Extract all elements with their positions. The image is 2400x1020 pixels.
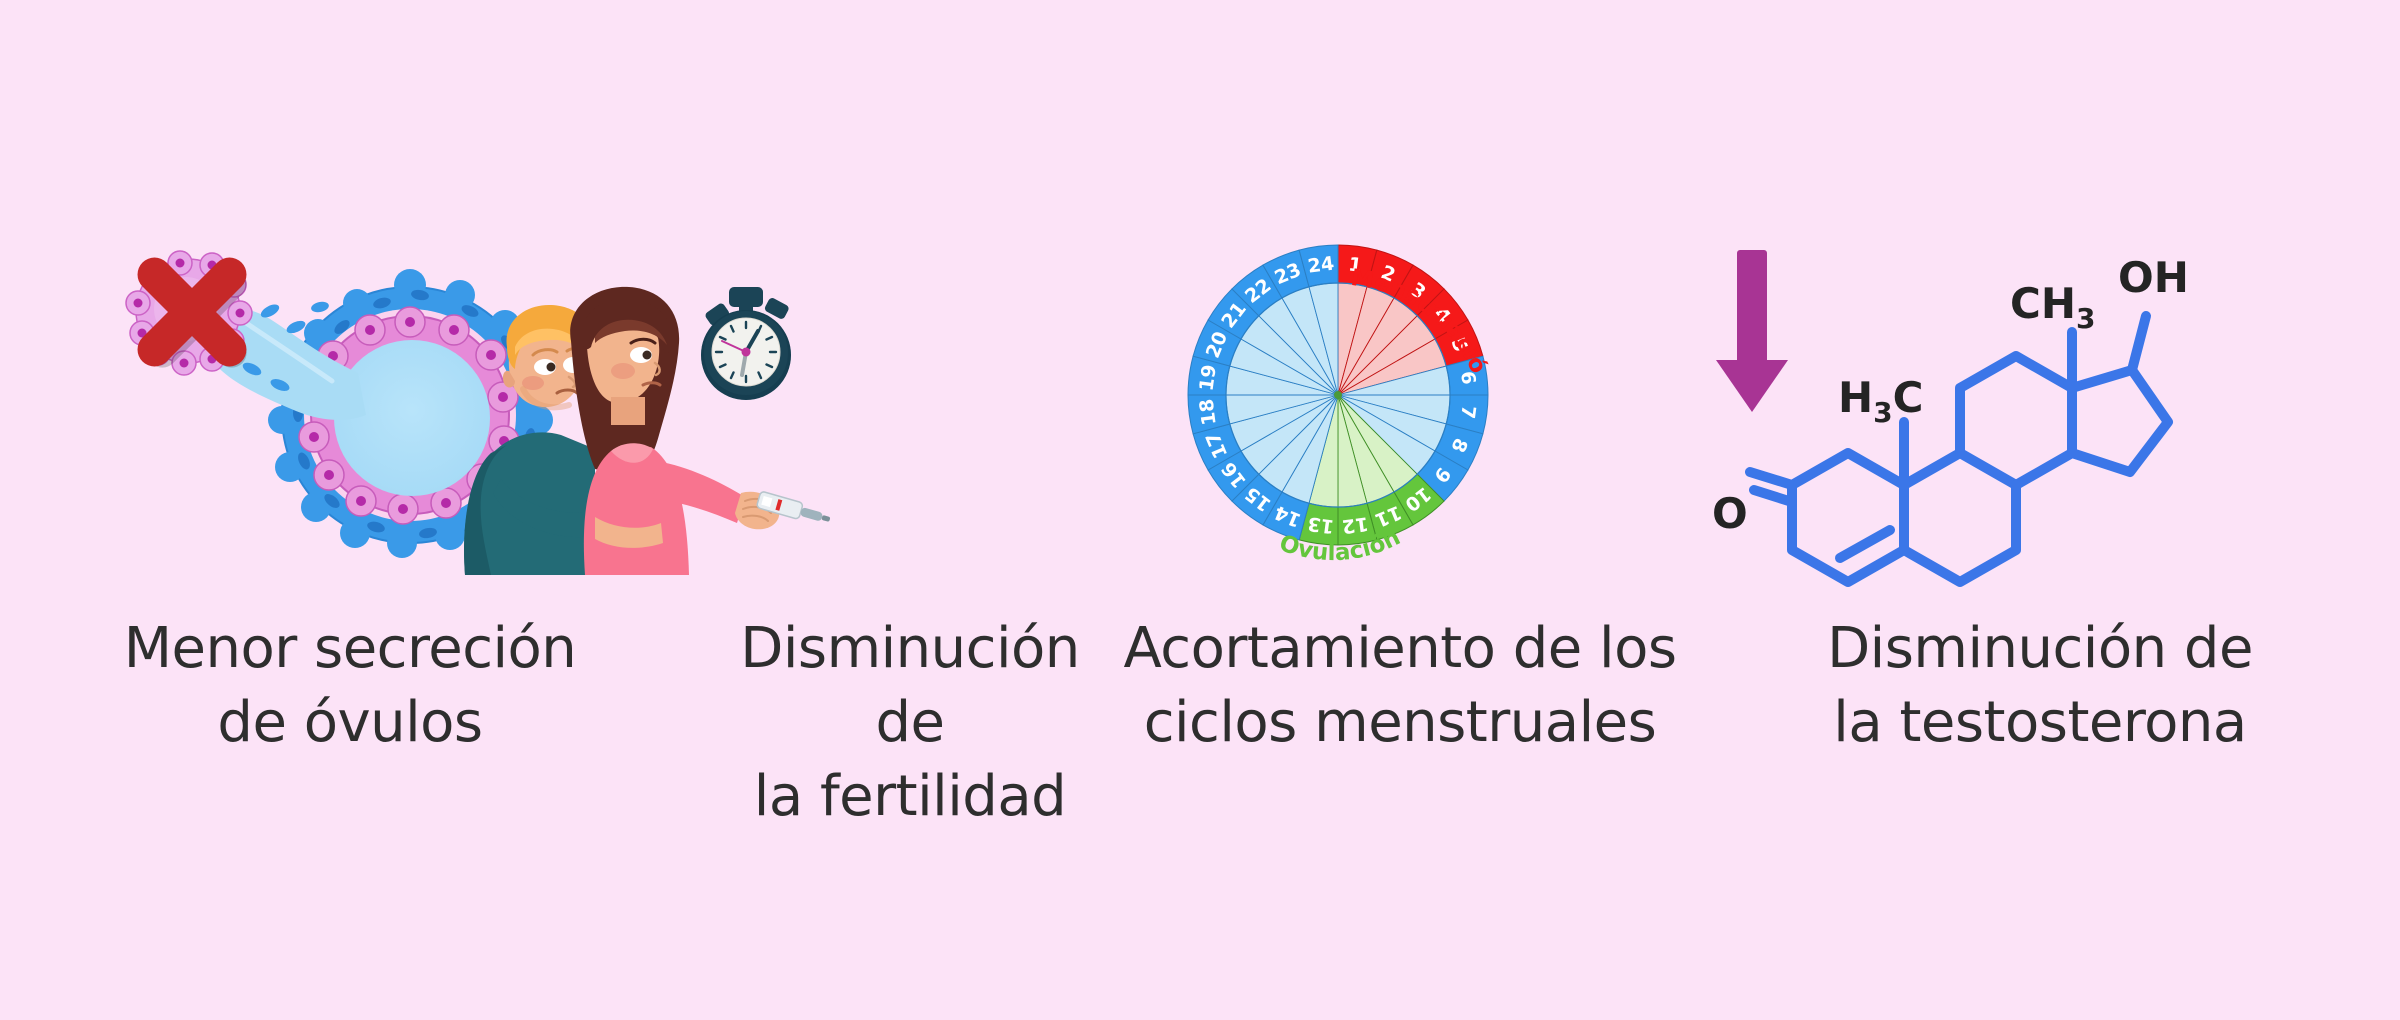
label-OH: OH: [2118, 253, 2189, 302]
couple-svg: [445, 285, 835, 575]
label-O: O: [1712, 489, 1748, 538]
molecule-svg: O H3C CH3 OH: [1710, 240, 2190, 600]
panel-disminucion-fertilidad: Disminución de la fertilidad: [700, 0, 1120, 1020]
cycle-day-number: 24: [1306, 252, 1335, 277]
cycle-hub: [1334, 391, 1342, 399]
cycle-wheel-svg: 123456789101112131415161718192021222324 …: [1173, 190, 1503, 600]
cycle-day-number: 12: [1341, 512, 1370, 537]
label-CH3: CH3: [2010, 279, 2095, 335]
menstrual-cycle-wheel-illustration: 123456789101112131415161718192021222324 …: [1173, 190, 1503, 600]
down-arrow-icon: [1716, 250, 1788, 412]
panel-acortamiento-ciclos: 123456789101112131415161718192021222324 …: [1120, 0, 1680, 1020]
caption-acortamiento-ciclos: Acortamiento de los ciclos menstruales: [1120, 612, 1680, 760]
cycle-day-number: 18: [1195, 398, 1220, 427]
cycle-day-number: 13: [1306, 512, 1335, 537]
label-H3C: H3C: [1838, 373, 1923, 429]
caption-disminucion-fertilidad: Disminución de la fertilidad: [700, 612, 1120, 834]
couple-thermometer-illustration: [445, 285, 835, 575]
testosterone-molecule-illustration: O H3C CH3 OH: [1710, 240, 2190, 600]
stopwatch-icon: [701, 287, 791, 400]
steroid-skeleton: [1750, 316, 2168, 582]
infographic-root: Menor secreción de óvulos: [0, 0, 2400, 1020]
caption-menor-secrecion-ovulos: Menor secreción de óvulos: [0, 612, 700, 760]
panel-disminucion-testosterona: O H3C CH3 OH Disminución de la testoster…: [1680, 0, 2400, 1020]
caption-disminucion-testosterona: Disminución de la testosterona: [1680, 612, 2400, 760]
panel-row: Menor secreción de óvulos: [0, 0, 2400, 1020]
cycle-day-number: 19: [1195, 363, 1220, 392]
woman-figure: [570, 287, 832, 575]
